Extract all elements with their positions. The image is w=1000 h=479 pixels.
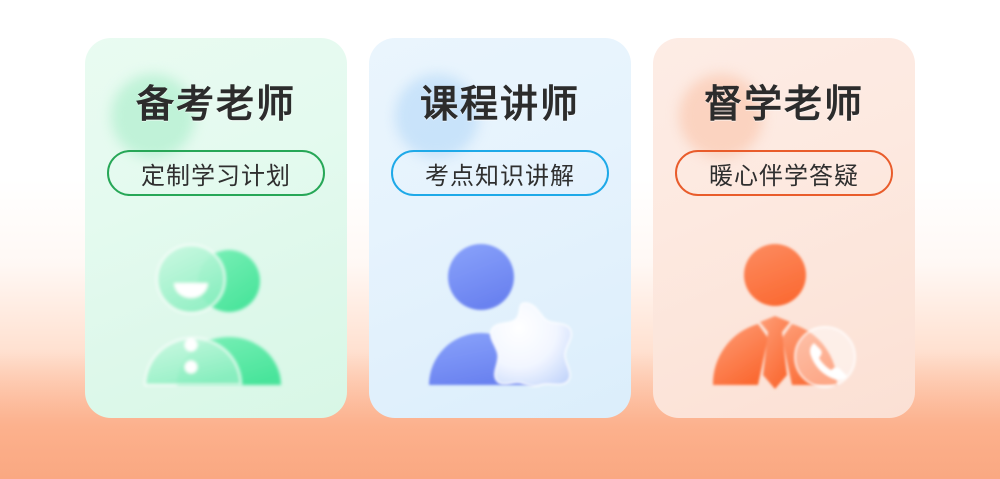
card-supervision-teacher[interactable]: 督学老师 暖心伴学答疑	[653, 38, 915, 418]
card-title: 督学老师	[653, 38, 915, 124]
banner-stage: 备考老师 定制学习计划	[0, 0, 1000, 479]
card-title: 备考老师	[85, 38, 347, 124]
card-subtitle-label: 定制学习计划	[141, 156, 291, 191]
card-subtitle-pill[interactable]: 暖心伴学答疑	[675, 150, 893, 196]
card-subtitle-label: 考点知识讲解	[425, 156, 575, 191]
card-course-instructor[interactable]: 课程讲师 考点知识讲解	[369, 38, 631, 418]
card-subtitle-pill[interactable]: 定制学习计划	[107, 150, 325, 196]
card-row: 备考老师 定制学习计划	[0, 0, 1000, 479]
card-exam-prep-teacher[interactable]: 备考老师 定制学习计划	[85, 38, 347, 418]
illustration-person-tie-phone	[653, 218, 915, 408]
card-subtitle-pill[interactable]: 考点知识讲解	[391, 150, 609, 196]
person-tie-phone-icon	[697, 233, 872, 393]
person-star-icon	[413, 233, 588, 393]
illustration-two-teachers	[85, 218, 347, 408]
card-subtitle-label: 暖心伴学答疑	[709, 156, 859, 191]
two-teachers-icon	[129, 233, 304, 393]
illustration-person-star	[369, 218, 631, 408]
card-title: 课程讲师	[369, 38, 631, 124]
